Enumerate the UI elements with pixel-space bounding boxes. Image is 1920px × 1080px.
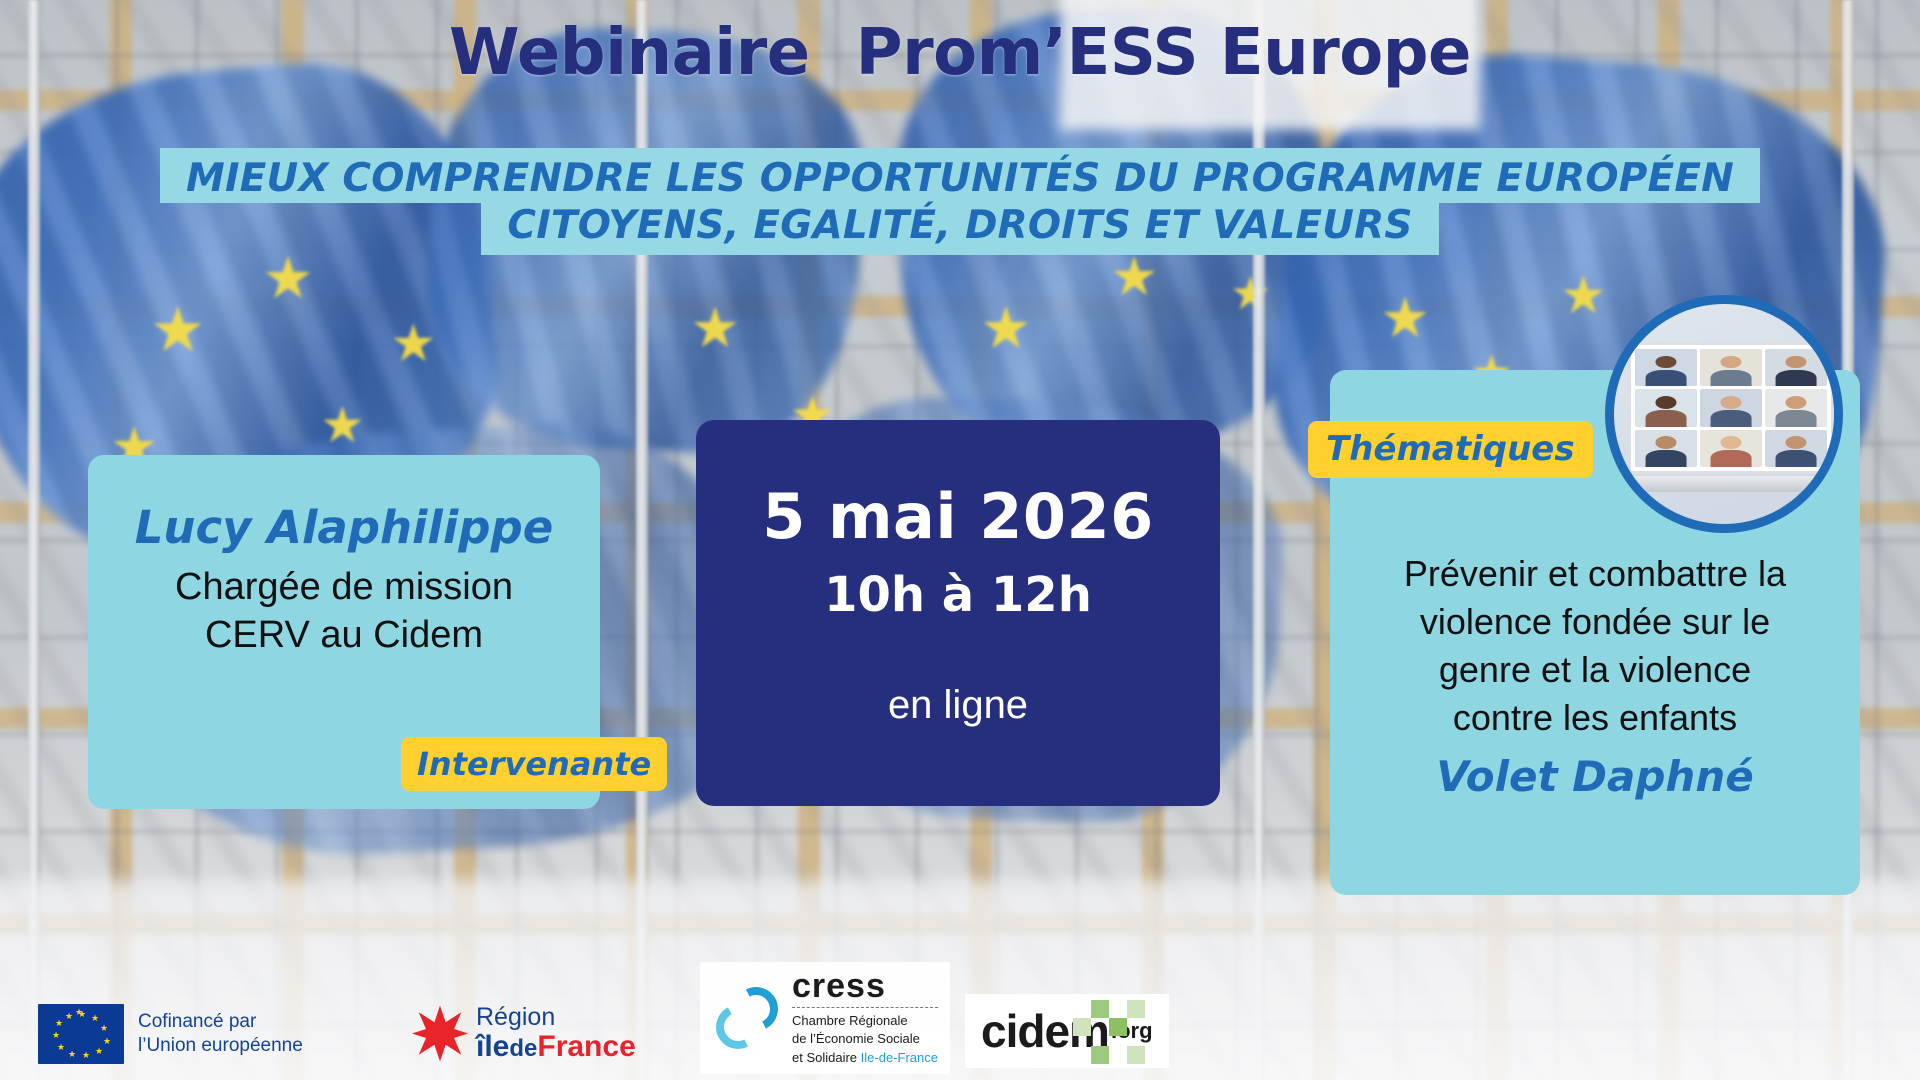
cidem-square: [1127, 1046, 1145, 1064]
intervenante-badge: Intervenante: [401, 737, 667, 791]
laptop-video-call-icon: [1628, 342, 1834, 474]
thematiques-badge: Thématiques: [1308, 421, 1593, 478]
participant-tile: [1700, 349, 1762, 386]
cress-sub-line-3: et Solidaire: [792, 1050, 861, 1065]
participant-tile: [1765, 349, 1827, 386]
cidem-square: [1127, 1000, 1145, 1018]
cidem-square: [1109, 1018, 1127, 1036]
cidem-logo: cidem .org: [965, 994, 1169, 1068]
cress-sub-line-2: de l’Économie Sociale: [792, 1030, 938, 1048]
participant-tile: [1700, 389, 1762, 426]
subtitle-line-1: MIEUX COMPRENDRE LES OPPORTUNITÉS DU PRO…: [160, 148, 1760, 203]
participant-tile: [1765, 389, 1827, 426]
cress-logo: cress Chambre Régionale de l’Économie So…: [700, 962, 950, 1074]
participant-tile: [1765, 430, 1827, 467]
theme-subtitle: Volet Daphné: [1330, 752, 1860, 801]
page-title: Webinaire Prom’ESS Europe: [0, 16, 1920, 90]
cress-divider: [792, 1007, 938, 1008]
footer-logos: ★ ★ ★ ★ ★ ★ ★ ★ ★ ★ ★ ★ Cofinancé par l’…: [0, 962, 1920, 1080]
event-date-card: 5 mai 2026 10h à 12h en ligne: [696, 420, 1220, 806]
event-date: 5 mai 2026: [696, 480, 1220, 553]
region-ile-de-france-logo: Région îledeFrance: [412, 1005, 636, 1062]
speaker-name: Lucy Alaphilippe: [88, 503, 600, 553]
cress-name: cress: [792, 969, 938, 1003]
eu-flag-icon: ★ ★ ★ ★ ★ ★ ★ ★ ★ ★ ★ ★: [38, 1004, 124, 1064]
title-promess-europe: Prom’ESS Europe: [856, 16, 1471, 90]
laptop-base: [1616, 476, 1843, 492]
participant-tile: [1635, 349, 1697, 386]
participant-tile: [1635, 430, 1697, 467]
cidem-square: [1091, 1000, 1109, 1018]
idf-ile-label: île: [476, 1030, 509, 1063]
eu-cofunded-logo: ★ ★ ★ ★ ★ ★ ★ ★ ★ ★ ★ ★ Cofinancé par l’…: [38, 1004, 303, 1064]
subtitle-line-2: CITOYENS, EGALITÉ, DROITS ET VALEURS: [481, 203, 1438, 254]
eu-cofunded-line-1: Cofinancé par: [138, 1010, 303, 1034]
speaker-role-line-2: CERV au Cidem: [88, 611, 600, 660]
participant-tile: [1700, 430, 1762, 467]
event-hours: 10h à 12h: [696, 567, 1220, 623]
eu-cofunded-line-2: l’Union européenne: [138, 1034, 303, 1058]
idf-de-label: de: [509, 1035, 537, 1062]
speaker-role-line-1: Chargée de mission: [88, 563, 600, 612]
theme-text-line-3: genre et la violence: [1346, 646, 1844, 694]
theme-text-line-2: violence fondée sur le: [1346, 598, 1844, 646]
subtitle-banner: MIEUX COMPRENDRE LES OPPORTUNITÉS DU PRO…: [0, 148, 1920, 255]
cress-sub-line-1: Chambre Régionale: [792, 1012, 938, 1030]
title-webinaire: Webinaire: [449, 16, 810, 90]
idf-region-label: Région: [476, 1005, 636, 1030]
cress-swirl-icon: [712, 983, 782, 1053]
cidem-square: [1091, 1046, 1109, 1064]
event-mode: en ligne: [696, 683, 1220, 728]
idf-france-label: France: [537, 1030, 635, 1063]
theme-text-line-1: Prévenir et combattre la: [1346, 550, 1844, 598]
idf-star-icon: [412, 1006, 468, 1062]
cidem-square: [1073, 1018, 1091, 1036]
cress-sub-region: Ile-de-France: [861, 1050, 938, 1065]
video-call-circle-image: [1605, 295, 1843, 533]
theme-text-line-4: contre les enfants: [1346, 694, 1844, 742]
participant-tile: [1635, 389, 1697, 426]
